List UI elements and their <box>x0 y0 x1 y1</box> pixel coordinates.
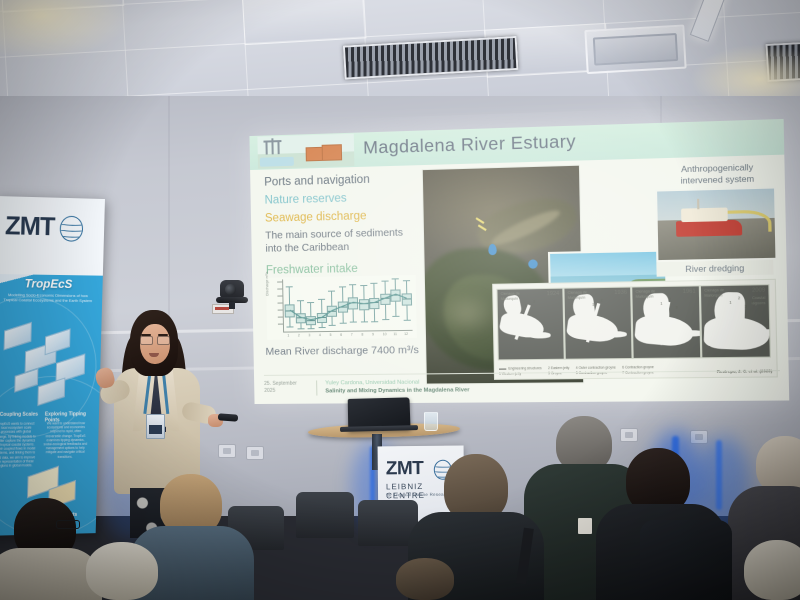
map-place-label: Cienaga deMallorquin <box>501 291 528 301</box>
slide-subject: Salinity and Mixing Dynamics in the Magd… <box>325 386 469 395</box>
chart-x-tick: 7 <box>351 333 353 337</box>
banner-zmt-logo: ZMT <box>5 210 55 242</box>
chart-x-tick: 6 <box>340 333 342 337</box>
chart-x-tick: 9 <box>372 332 374 336</box>
chart-x-tick: 2 <box>298 333 300 337</box>
anthropogenic-label: Anthropogenically intervened system <box>658 161 778 187</box>
ptz-camera <box>216 280 250 308</box>
slide-date: 25. September 2025 <box>264 381 308 395</box>
banner-project-title: TropEcS <box>0 276 103 291</box>
backpack <box>640 520 732 600</box>
slide-footer: 25. September 2025 Yuley Cardona, Univer… <box>264 370 780 400</box>
map-place-label: Cienaga deMallorquin <box>704 288 732 298</box>
legend-item: Engineering structures <box>508 366 541 370</box>
historical-maps-panel: 1924Cienaga deMallorquin121936Cienaga de… <box>492 279 778 380</box>
attendee-head <box>396 558 454 600</box>
ceiling-light <box>690 0 736 42</box>
chart-x-tick: 8 <box>361 333 363 337</box>
map-year: 1936 <box>614 290 627 296</box>
historical-map: 2009Cienaga deMallorquin1234Coastal lago… <box>700 284 771 358</box>
historical-map: 1936Cienaga deMallorquin12 <box>563 287 632 360</box>
chart-x-tick: 11 <box>393 332 397 336</box>
slide-date-line2: 2025 <box>264 388 308 395</box>
footer-divider <box>316 380 317 395</box>
map-year: 1961 <box>683 289 696 295</box>
chart-x-tick: 10 <box>383 332 387 336</box>
bullet-sewage-discharge: Seawage discharge <box>265 208 417 227</box>
map-year: 1924 <box>547 291 560 297</box>
chart-x-tick: 1 <box>287 334 289 338</box>
map-place-label: Cienaga deMallorquin <box>568 290 596 300</box>
slide-body: Ports and navigation Nature reserves Sea… <box>250 155 789 404</box>
historical-map: 1924Cienaga deMallorquin12 <box>496 288 564 361</box>
bullet-ports: Ports and navigation <box>264 171 416 190</box>
river-dredging-label: River dredging <box>656 260 773 277</box>
slide: Magdalena River Estuary Ports and naviga… <box>249 119 789 404</box>
eyeglasses-icon <box>56 520 80 529</box>
historical-map: 1961Cienaga deMallorquin123 <box>631 285 701 359</box>
map-year: 2009 <box>752 287 765 294</box>
map-coastal-label: Coastal lagoons <box>741 296 765 306</box>
ac-diffuser <box>584 25 686 75</box>
bullet-nature-reserves: Nature reserves <box>264 190 416 209</box>
eyeglasses-icon <box>140 336 170 343</box>
chair <box>296 492 354 538</box>
chart-x-tick: 5 <box>330 333 332 337</box>
median-trend-line <box>266 275 417 340</box>
legend-item: 2 Eastern jetty <box>548 366 570 371</box>
discharge-caption: Mean River discharge 7400 m³/s <box>265 344 419 358</box>
attendee-head <box>744 540 800 600</box>
projection-screen: Magdalena River Estuary Ports and naviga… <box>249 119 789 404</box>
discharge-boxplot-chart: Discharge m³/s 123456789101112 <box>266 275 417 340</box>
bullet-sediments-line2: into the Caribbean <box>265 239 417 255</box>
conference-room-photo: Magdalena River Estuary Ports and naviga… <box>0 0 800 600</box>
map-place-label: Cienaga deMallorquin <box>636 289 664 299</box>
chart-x-tick: 3 <box>308 333 310 337</box>
slide-title: Magdalena River Estuary <box>363 131 576 159</box>
chart-x-tick: 12 <box>404 332 408 336</box>
port-illustration-icon <box>257 134 354 169</box>
name-tag <box>578 518 592 534</box>
chart-x-tick: 4 <box>319 333 321 337</box>
banner-subtitle: Modelling Socio-Economic Dimensions of h… <box>1 292 95 304</box>
anthropogenic-line2: intervened system <box>658 173 777 188</box>
audience <box>0 410 800 600</box>
attendee-head <box>86 542 158 600</box>
legend-dash-icon <box>499 368 506 369</box>
dredging-photo <box>655 186 778 262</box>
camera-lens-icon <box>225 284 236 295</box>
